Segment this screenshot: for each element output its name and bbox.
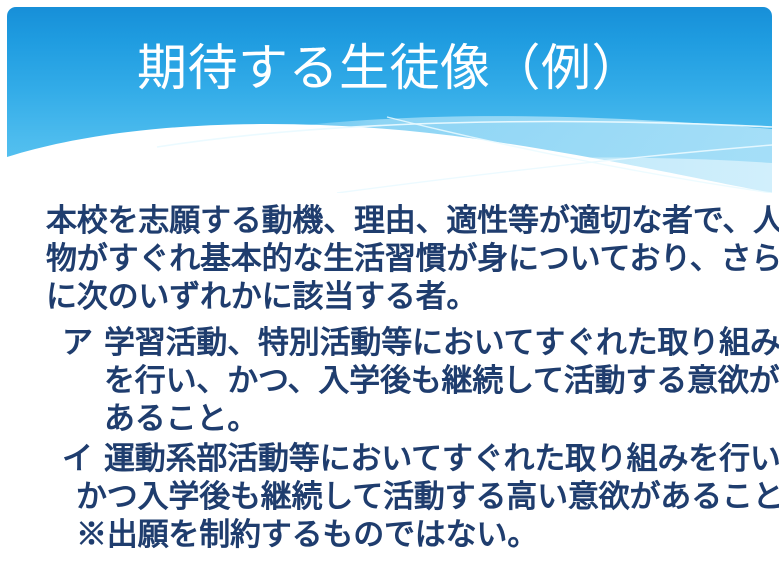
list-line: を行い、かつ、入学後も継続して活動する意欲が — [104, 362, 779, 400]
note-line: ※出願を制約するものではない。 — [76, 516, 776, 554]
slide: 期待する生徒像（例） 本校を志願する動機、理由、適性等が適切な者で、人 物がすぐ… — [0, 0, 779, 580]
list-marker: イ — [62, 440, 104, 478]
list-item-text: 学習活動、特別活動等においてすぐれた取り組み を行い、かつ、入学後も継続して活動… — [104, 324, 779, 438]
page-title: 期待する生徒像（例） — [7, 41, 772, 95]
list-item-a: ア 学習活動、特別活動等においてすぐれた取り組み を行い、かつ、入学後も継続して… — [62, 324, 774, 438]
list-item-b: イ 運動系部活動等においてすぐれた取り組みを行い、 かつ入学後も継続して活動する… — [62, 440, 776, 516]
list-line: 運動系部活動等においてすぐれた取り組みを行い、 — [104, 440, 779, 478]
list-line: かつ入学後も継続して活動する高い意欲があること。 — [76, 478, 779, 516]
lead-line: 物がすぐれ基本的な生活習慣が身についており、さら — [46, 240, 762, 278]
header-banner: 期待する生徒像（例） — [7, 7, 772, 193]
list-line: あること。 — [104, 400, 779, 438]
note-text: ※出願を制約するものではない。 — [76, 516, 776, 554]
lead-paragraph: 本校を志願する動機、理由、適性等が適切な者で、人 物がすぐれ基本的な生活習慣が身… — [46, 202, 762, 316]
lead-line: に次のいずれかに該当する者。 — [46, 278, 762, 316]
lead-line: 本校を志願する動機、理由、適性等が適切な者で、人 — [46, 202, 762, 240]
list-item-text: 運動系部活動等においてすぐれた取り組みを行い、 かつ入学後も継続して活動する高い… — [104, 440, 779, 516]
list-marker: ア — [62, 324, 104, 362]
list-line: 学習活動、特別活動等においてすぐれた取り組み — [104, 324, 779, 362]
wave-decoration-icon — [7, 7, 772, 193]
slide-body: 本校を志願する動機、理由、適性等が適切な者で、人 物がすぐれ基本的な生活習慣が身… — [0, 192, 779, 580]
